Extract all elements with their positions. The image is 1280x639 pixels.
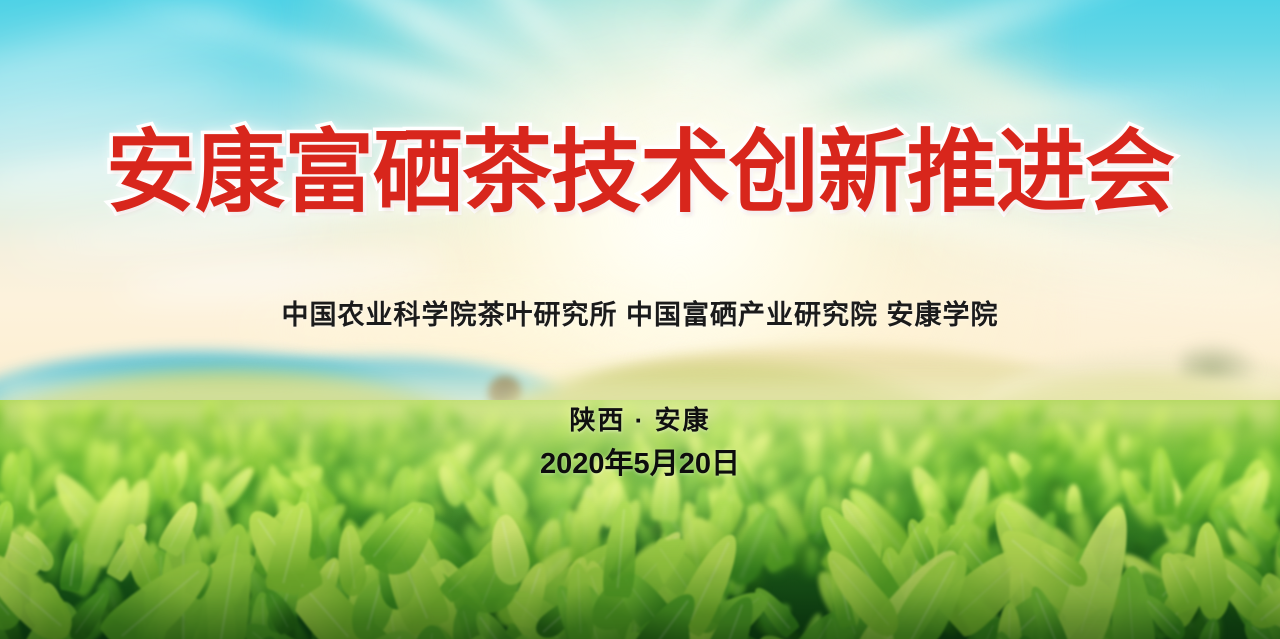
leaf-vein (812, 480, 818, 528)
page-title: 安康富硒茶技术创新推进会 (0, 125, 1280, 221)
leaf-vein (1127, 578, 1137, 639)
leaf-vein (502, 521, 516, 577)
date-label: 2020年5月20日 (0, 447, 1280, 481)
leaf-vein (216, 536, 238, 639)
tea-leaf (1065, 484, 1081, 513)
tea-leaf (1131, 533, 1151, 556)
distant-treeline (1180, 340, 1260, 382)
leaf-vein (0, 506, 7, 557)
leaf-vein (497, 476, 520, 513)
leaf-vein (544, 522, 552, 557)
leaf-vein (1008, 609, 1010, 639)
leaf-vein (617, 509, 625, 588)
location-label: 陕西 · 安康 (0, 405, 1280, 435)
leaf-vein (425, 634, 433, 639)
leaf-vein (283, 509, 303, 583)
tea-leaf-foreground (0, 400, 1280, 639)
poster-canvas: 安康富硒茶技术创新推进会 中国农业科学院茶叶研究所 中国富硒产业研究院 安康学院… (0, 0, 1280, 639)
organizers-line: 中国农业科学院茶叶研究所 中国富硒产业研究院 安康学院 (0, 299, 1280, 331)
leaf-vein (584, 502, 586, 558)
leaf-vein (577, 569, 581, 633)
leaf-vein (347, 531, 355, 589)
leaf-vein (1204, 622, 1214, 639)
leaf-vein (70, 543, 77, 585)
leaf-vein (1204, 531, 1216, 611)
tea-leaf (805, 544, 820, 576)
